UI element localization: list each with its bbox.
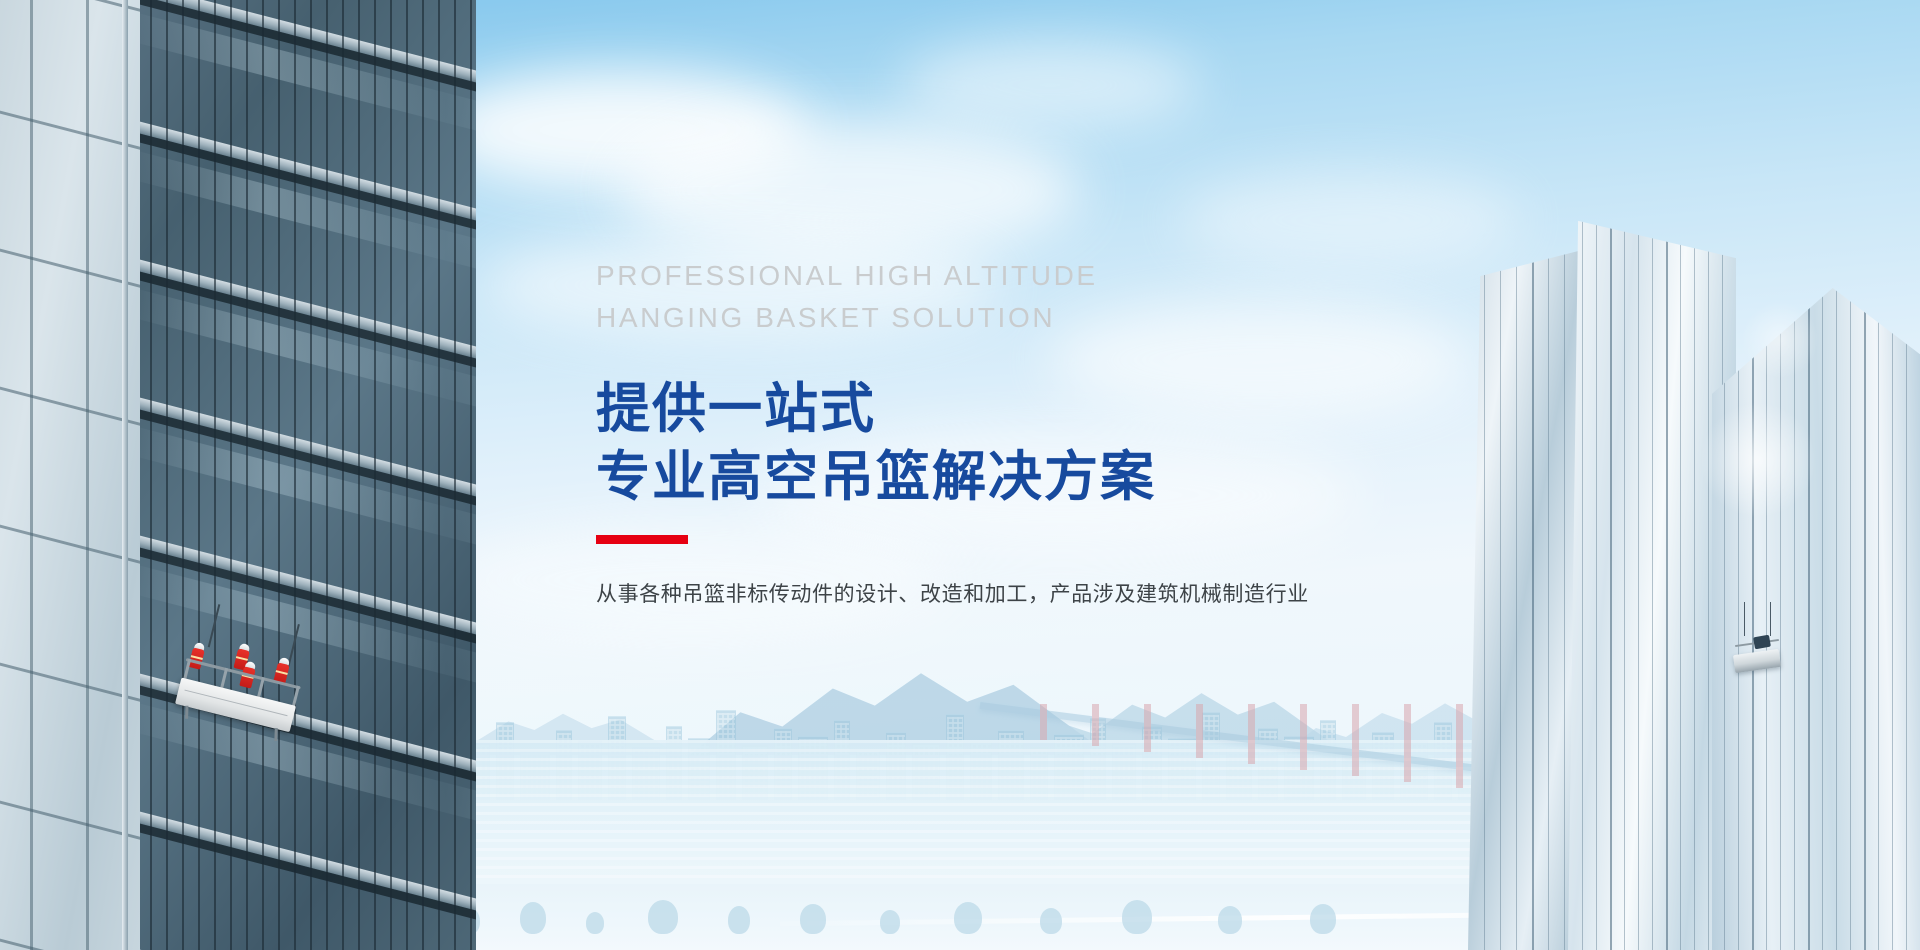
- page-title: 提供一站式 专业高空吊篮解决方案: [596, 375, 1496, 511]
- corner-panels: [0, 0, 140, 950]
- hero-copy: PROFESSIONAL HIGH ALTITUDE HANGING BASKE…: [596, 255, 1496, 610]
- hero-banner: PROFESSIONAL HIGH ALTITUDE HANGING BASKE…: [0, 0, 1920, 950]
- tagline-text: 从事各种吊篮非标传动件的设计、改造和加工，产品涉及建筑机械制造行业: [596, 578, 1496, 610]
- right-tower-b: [1568, 206, 1736, 950]
- eyebrow-text: PROFESSIONAL HIGH ALTITUDE HANGING BASKE…: [596, 255, 1496, 339]
- suspended-platform-gondola-right: [1732, 630, 1788, 688]
- title-divider: [596, 535, 688, 544]
- left-skyscraper: [0, 0, 476, 950]
- right-highrise-cluster: [1440, 0, 1920, 950]
